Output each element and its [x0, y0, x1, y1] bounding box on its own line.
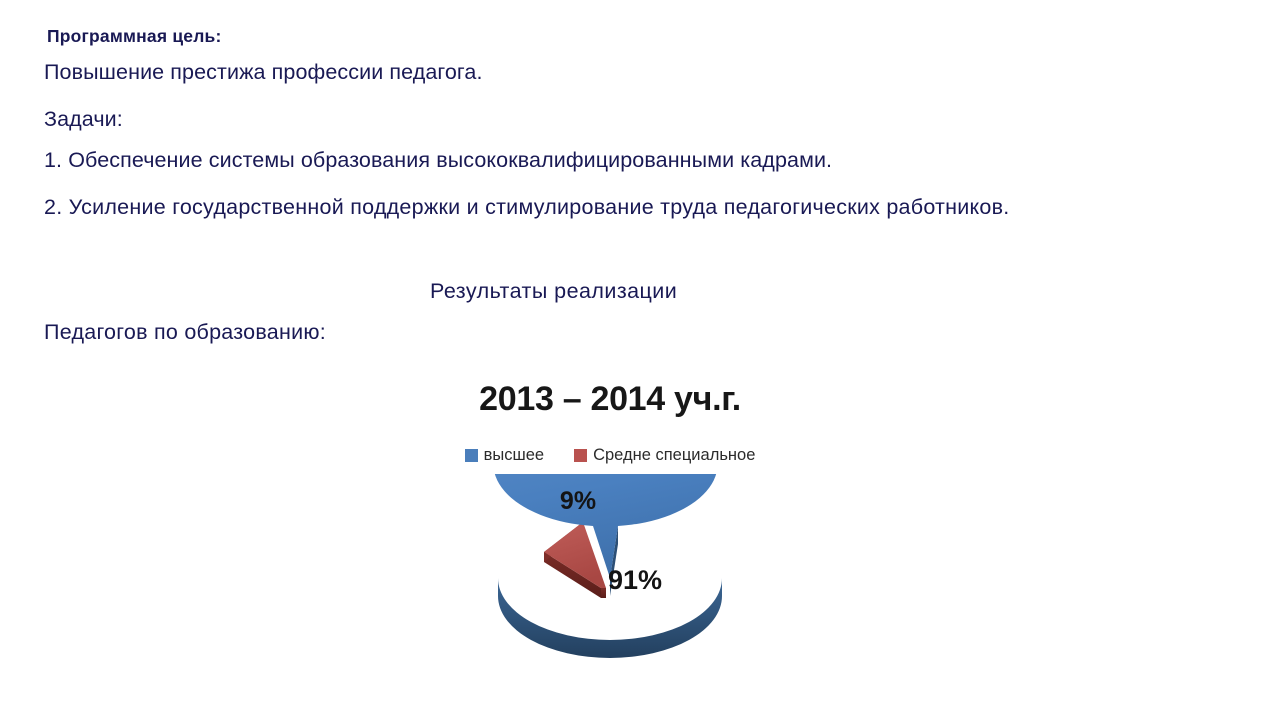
- legend-label-sredne-specialnoe: Средне специальное: [593, 446, 755, 465]
- pie-label-91-percent: 91%: [608, 565, 662, 595]
- pie-slice-blue-top: [494, 474, 718, 578]
- program-goal-text: Повышение престижа профессии педагога.: [44, 62, 483, 84]
- legend-swatch-icon-blue: [465, 449, 478, 462]
- task-item-2: 2. Усиление государственной поддержки и …: [44, 197, 1010, 219]
- pie-chart-svg: 9% 91%: [480, 474, 740, 664]
- legend-item-sredne-specialnoe: Средне специальное: [574, 446, 755, 465]
- legend-item-vysshee: высшее: [465, 446, 544, 465]
- pie-label-9-percent: 9%: [560, 487, 596, 515]
- chart-title: 2013 – 2014 уч.г.: [400, 380, 820, 419]
- chart-legend: высшее Средне специальное: [400, 446, 820, 465]
- education-breakdown-label: Педагогов по образованию:: [44, 322, 326, 344]
- task-item-1: 1. Обеспечение системы образования высок…: [44, 150, 832, 172]
- tasks-heading: Задачи:: [44, 109, 123, 131]
- results-heading: Результаты реализации: [430, 281, 677, 303]
- pie-graphic-area: 9% 91%: [400, 474, 820, 664]
- pie-chart: 2013 – 2014 уч.г. высшее Средне специаль…: [400, 370, 820, 670]
- legend-swatch-icon-red: [574, 449, 587, 462]
- program-goal-heading: Программная цель:: [47, 28, 222, 46]
- legend-label-vysshee: высшее: [484, 446, 544, 465]
- slide-canvas: Программная цель: Повышение престижа про…: [0, 0, 1280, 720]
